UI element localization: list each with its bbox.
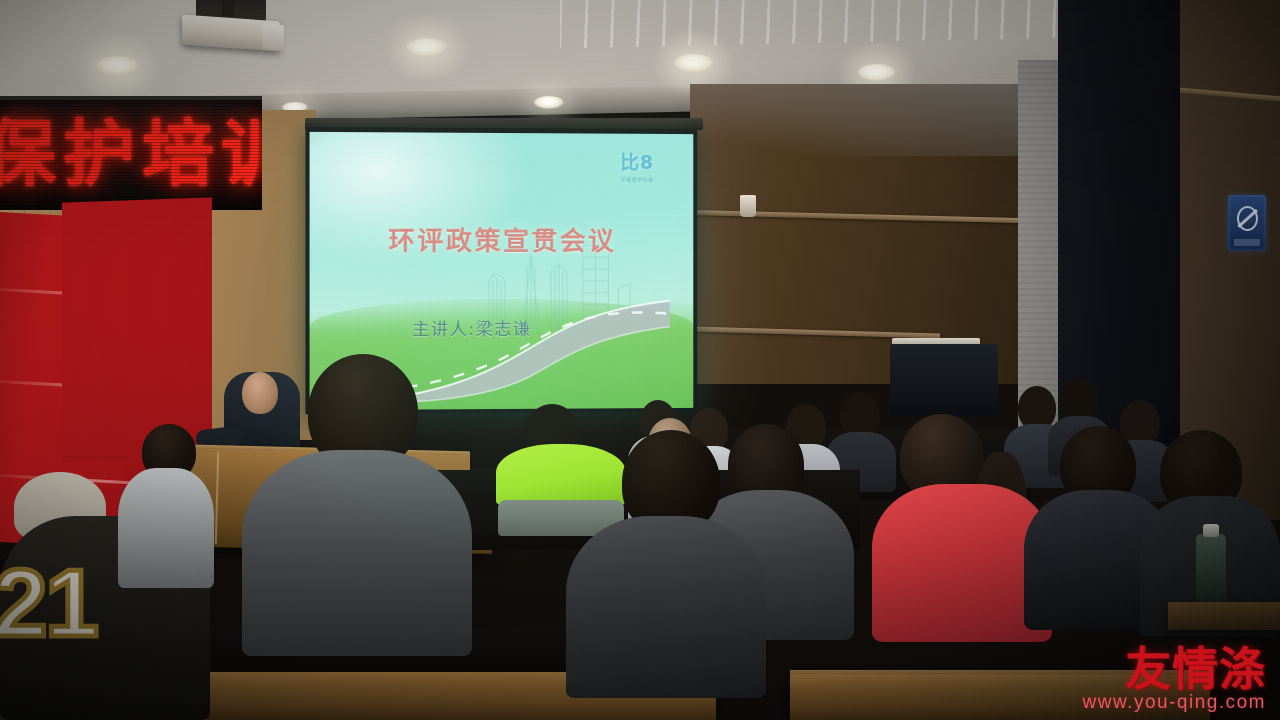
projector-stem — [222, 0, 234, 16]
led-scrolling-sign: 保护培训 — [0, 100, 262, 210]
slide-logo: 比8 环境保护科技 — [606, 148, 667, 184]
slide-logo-mark: 比8 — [606, 148, 667, 175]
projector-lens — [262, 23, 284, 51]
av-equipment-cabinet — [890, 344, 998, 416]
wall-sconce-light — [740, 195, 756, 217]
sign-caption-bar — [1234, 239, 1260, 246]
person-body — [566, 516, 766, 698]
ceiling-downlight — [96, 56, 140, 76]
slide-title: 环评政策宣贯会议 — [310, 221, 694, 259]
audience-desk-right — [1168, 602, 1280, 630]
audience-member — [118, 424, 214, 584]
person-body — [118, 468, 214, 588]
person-body — [242, 450, 472, 656]
wall-panel-red-upper — [62, 197, 212, 462]
ceiling-downlight — [406, 38, 448, 57]
wall-panel-sheen — [690, 84, 1020, 156]
slide-presenter: 主讲人:梁志谦 — [366, 315, 576, 341]
slide-logo-subtext: 环境保护科技 — [606, 176, 667, 183]
ceiling-downlight — [534, 96, 564, 109]
site-watermark: 友情涤 www.you-qing.com — [1083, 644, 1266, 714]
watermark-url: www.you-qing.com — [1083, 692, 1266, 714]
water-bottle-cap — [1203, 524, 1219, 537]
water-bottle — [1196, 534, 1226, 608]
ceiling-downlight — [674, 54, 714, 72]
ceiling-grille — [560, 0, 1080, 48]
led-sign-text: 保护培训 — [0, 108, 262, 200]
ceiling-downlight — [858, 64, 896, 81]
jersey-number: 21 — [0, 556, 97, 652]
watermark-chinese: 友情涤 — [1083, 644, 1266, 694]
audience-member — [566, 430, 766, 690]
conference-room-photo: 保护培训 — [0, 0, 1280, 720]
no-smoking-sign — [1228, 195, 1266, 251]
audience-member — [242, 354, 472, 654]
